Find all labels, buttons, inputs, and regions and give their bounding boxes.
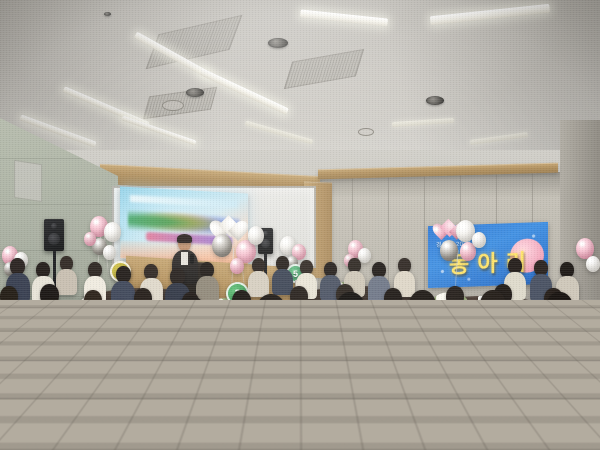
attendee-head <box>546 292 573 324</box>
chair-leg <box>26 438 84 441</box>
shoe <box>470 378 488 386</box>
balloon-silver <box>212 234 232 257</box>
shoe <box>178 404 198 413</box>
attendee-head <box>38 298 66 332</box>
balloon-white <box>472 232 486 248</box>
presenter-shirt <box>181 252 188 265</box>
attendee-body <box>238 326 302 392</box>
shoe <box>490 380 506 388</box>
attendee-head <box>134 288 152 309</box>
attendee-head <box>232 290 251 312</box>
attendee-body <box>0 305 25 343</box>
attendee-head <box>409 290 436 323</box>
attendee-head <box>446 286 464 307</box>
balloon-white <box>104 222 121 242</box>
balloon-white <box>586 256 600 272</box>
balloon-white <box>103 245 116 260</box>
event-hall-photograph: 경주시 2024 동 아 리 <box>0 0 600 450</box>
slide-top-strip <box>130 195 238 208</box>
attendee-head <box>384 288 402 309</box>
attendee-head <box>0 286 18 307</box>
attendee-body <box>319 323 381 387</box>
balloon-heart-white <box>216 212 242 236</box>
pa-speaker <box>44 219 64 251</box>
attendee-head <box>84 290 102 311</box>
speaker-tweeter <box>51 223 57 229</box>
balloon-white <box>248 226 264 245</box>
partition-seam <box>424 172 425 302</box>
bag-on-floor <box>88 330 110 344</box>
attendee-head <box>480 290 506 321</box>
attendee-body <box>466 318 522 376</box>
attendee-head <box>290 286 308 307</box>
balloon-pink <box>230 258 244 274</box>
attendee-body <box>158 328 222 392</box>
attendee-head <box>256 294 286 330</box>
chair-leg <box>144 440 206 443</box>
attendee-head <box>336 292 365 327</box>
attendee-body <box>22 328 82 390</box>
attendee-head <box>176 296 206 332</box>
wall-plate <box>14 160 42 202</box>
attendee-body <box>393 320 451 380</box>
balloon-pink <box>84 232 96 246</box>
chair-leg <box>236 442 298 445</box>
speaker-driver <box>48 233 60 245</box>
presenter-hair <box>177 234 192 243</box>
attendee-body <box>248 271 269 297</box>
microphone-icon <box>190 254 194 264</box>
bag-on-floor <box>544 356 570 378</box>
attendee-body <box>56 269 77 295</box>
balloon-silver <box>440 240 458 261</box>
